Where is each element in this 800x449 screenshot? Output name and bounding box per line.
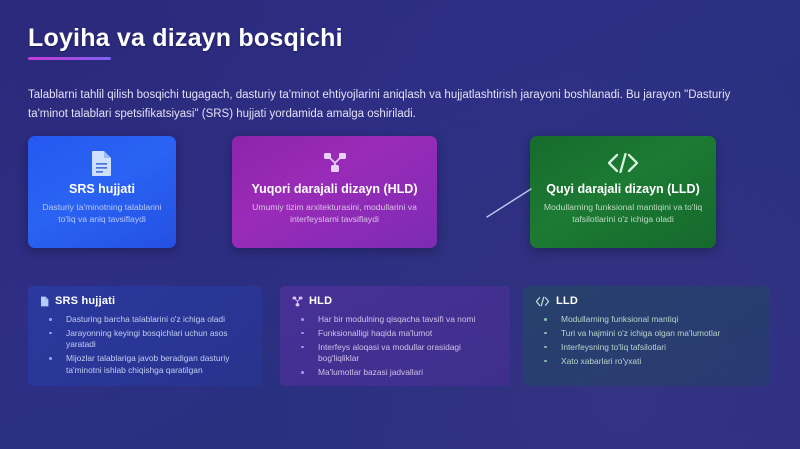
list-item: Har bir modulning qisqacha tavsifi va no… — [292, 314, 500, 325]
panel-lld[interactable]: LLD Modullarning funksional mantiqi Turi… — [523, 286, 770, 386]
slide-root: Loyiha va dizayn bosqichi Talablarni tah… — [0, 0, 800, 449]
list-item: Turi va hajmini o'z ichiga olgan ma'lumo… — [535, 328, 760, 339]
document-icon — [40, 296, 49, 307]
code-icon — [535, 296, 550, 307]
panel-srs[interactable]: SRS hujjati Dasturing barcha talablarini… — [28, 286, 262, 386]
card-srs[interactable]: SRS hujjati Dasturiy ta'minotning talabl… — [28, 136, 176, 248]
panel-title: LLD — [556, 295, 578, 307]
sitemap-icon — [292, 296, 303, 307]
list-item: Mijozlar talablariga javob beradigan das… — [40, 353, 252, 376]
list-item: Ma'lumotlar bazasi jadvallari — [292, 367, 500, 378]
title-underline-accent — [28, 57, 111, 60]
intro-paragraph: Talablarni tahlil qilish bosqichi tugaga… — [28, 86, 770, 124]
panel-bullet-list: Dasturing barcha talablarini o'z ichiga … — [40, 314, 252, 376]
card-title: SRS hujjati — [69, 182, 135, 197]
panel-header: HLD — [292, 295, 500, 307]
list-item: Jarayonning keyingi bosqichlari uchun as… — [40, 328, 252, 351]
panel-title: SRS hujjati — [55, 295, 115, 307]
panel-bullet-list: Har bir modulning qisqacha tavsifi va no… — [292, 314, 500, 379]
list-item: Interfeys aloqasi va modullar orasidagi … — [292, 342, 500, 365]
panel-header: LLD — [535, 295, 760, 307]
list-item: Modullarning funksional mantiqi — [535, 314, 760, 325]
sitemap-icon — [322, 148, 348, 178]
panel-bullet-list: Modullarning funksional mantiqi Turi va … — [535, 314, 760, 367]
list-item: Funksionalligi haqida ma'lumot — [292, 328, 500, 339]
detail-panel-row: SRS hujjati Dasturing barcha talablarini… — [0, 286, 800, 390]
code-icon — [606, 148, 640, 178]
card-description: Dasturiy ta'minotning talablarini to'liq… — [38, 202, 166, 225]
card-title: Quyi darajali dizayn (LLD) — [546, 182, 700, 197]
card-description: Modullarning funksional mantiqini va to'… — [540, 202, 706, 225]
document-icon — [91, 148, 113, 178]
card-lld[interactable]: Quyi darajali dizayn (LLD) Modullarning … — [530, 136, 716, 248]
page-title: Loyiha va dizayn bosqichi — [28, 24, 343, 53]
card-hld[interactable]: Yuqori darajali dizayn (HLD) Umumiy tizi… — [232, 136, 437, 248]
panel-hld[interactable]: HLD Har bir modulning qisqacha tavsifi v… — [280, 286, 510, 386]
card-description: Umumiy tizim arxitekturasini, modullarin… — [242, 202, 427, 225]
list-item: Dasturing barcha talablarini o'z ichiga … — [40, 314, 252, 325]
list-item: Xato xabarlari ro'yxati — [535, 356, 760, 367]
card-title: Yuqori darajali dizayn (HLD) — [252, 182, 418, 197]
card-row: SRS hujjati Dasturiy ta'minotning talabl… — [0, 136, 800, 254]
panel-header: SRS hujjati — [40, 295, 252, 307]
list-item: Interfeysning to'liq tafsilotlari — [535, 342, 760, 353]
panel-title: HLD — [309, 295, 332, 307]
